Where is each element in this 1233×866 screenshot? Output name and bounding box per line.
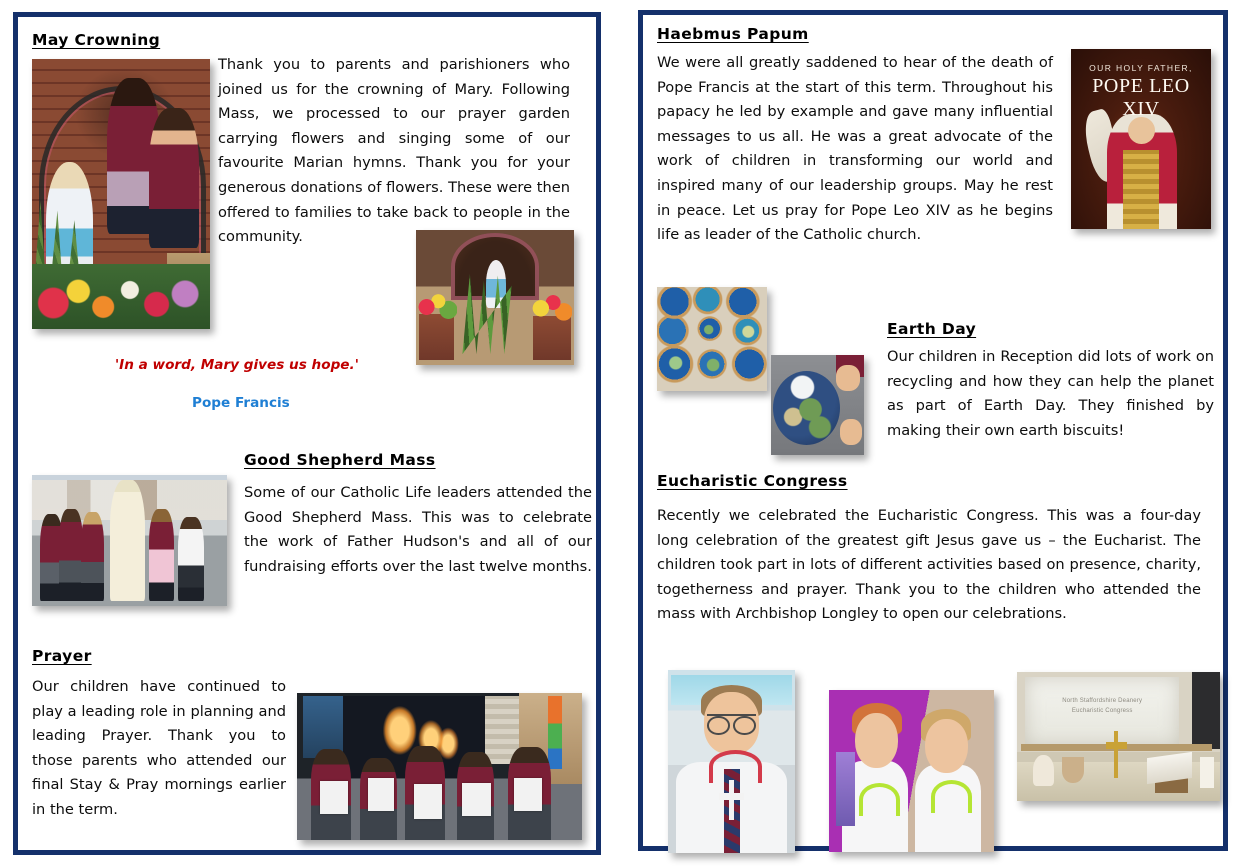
- photo-content: [297, 693, 582, 840]
- heading-haebmus-papum: Haebmus Papum: [657, 25, 809, 43]
- child-figure: [59, 509, 82, 601]
- photo-content: [32, 475, 227, 606]
- photo-content: [668, 670, 795, 853]
- colour-strip: [548, 696, 562, 770]
- candle: [1200, 757, 1214, 788]
- photo-content: North Staffordshire Deanery Eucharistic …: [1017, 672, 1220, 801]
- projection-screen: North Staffordshire Deanery Eucharistic …: [1025, 677, 1179, 747]
- bouquet-left: [418, 289, 458, 324]
- heading-may-crowning: May Crowning: [32, 31, 160, 49]
- congress-altar-photo: North Staffordshire Deanery Eucharistic …: [1017, 672, 1220, 801]
- globe-model: [773, 371, 840, 445]
- prayer-sheet: [462, 783, 491, 817]
- icing-continents: [657, 287, 767, 391]
- body-may-crowning: Thank you to parents and parishioners wh…: [218, 53, 570, 250]
- stage-curtain: [1192, 672, 1220, 749]
- heading-good-shepherd-mass: Good Shepherd Mass: [244, 451, 436, 469]
- girl-head: [925, 719, 968, 772]
- bouquet-right: [531, 291, 572, 327]
- child-figure: [149, 509, 174, 601]
- pipe-cleaner-heart: [859, 783, 900, 816]
- body-eucharistic-congress: Recently we celebrated the Eucharistic C…: [657, 504, 1201, 627]
- prayer-sheet: [514, 778, 543, 810]
- child-figure: [81, 512, 104, 601]
- newsletter-page: May Crowning Thank you to parents and pa…: [0, 0, 1233, 866]
- beaded-heart: [709, 750, 763, 783]
- body-haebmus-papum: We were all greatly saddened to hear of …: [657, 51, 1053, 248]
- backpack: [836, 752, 856, 827]
- slide-line-1: North Staffordshire Deanery: [1025, 698, 1179, 704]
- prayer-sheet: [414, 784, 443, 819]
- girl-head: [855, 713, 898, 768]
- praying-hands-statue: [1033, 755, 1053, 786]
- photo-content: [829, 690, 994, 852]
- earth-biscuits-photo: [657, 287, 767, 391]
- prayer-sheet: [320, 781, 349, 813]
- flower-bed: [32, 264, 210, 329]
- glasses: [707, 714, 755, 731]
- left-column-panel: May Crowning Thank you to parents and pa…: [13, 12, 601, 855]
- right-column-panel: Haebmus Papum We were all greatly sadden…: [638, 10, 1228, 851]
- earth-globe-photo: [771, 355, 864, 455]
- pipe-cleaner-heart: [931, 780, 972, 813]
- chalice: [1062, 757, 1084, 783]
- heading-eucharistic-congress: Eucharistic Congress: [657, 472, 848, 490]
- boy-with-cross-photo: [668, 670, 795, 853]
- boy-figure: [149, 108, 199, 248]
- heading-earth-day: Earth Day: [887, 320, 976, 338]
- photo-content: [416, 230, 574, 365]
- pope-quote: 'In a word, Mary gives us hope.': [115, 357, 359, 373]
- heading-prayer: Prayer: [32, 647, 92, 665]
- cross-craft: [719, 780, 744, 820]
- photo-content: [32, 59, 210, 329]
- photo-content: OUR HOLY FATHER, POPE LEO XIV: [1071, 49, 1211, 229]
- pope-leo-xiv-poster: OUR HOLY FATHER, POPE LEO XIV: [1071, 49, 1211, 229]
- prayer-classroom-photo: [297, 693, 582, 840]
- body-good-shepherd-mass: Some of our Catholic Life leaders attend…: [244, 481, 592, 579]
- child-hand: [836, 365, 860, 391]
- child-hand: [840, 419, 862, 445]
- slide-line-2: Eucharistic Congress: [1025, 708, 1179, 714]
- altar-cross: [1106, 731, 1126, 777]
- poster-subtitle: OUR HOLY FATHER,: [1071, 63, 1211, 73]
- prayer-sheet: [368, 778, 394, 810]
- poster-title: POPE LEO XIV: [1071, 75, 1211, 121]
- priest-figure: [110, 480, 145, 601]
- child-figure: [178, 517, 203, 601]
- pope-quote-attribution: Pope Francis: [192, 395, 290, 411]
- body-earth-day: Our children in Reception did lots of wo…: [887, 345, 1214, 443]
- photo-content: [657, 287, 767, 391]
- prayer-garden-photo: [416, 230, 574, 365]
- good-shepherd-mass-photo: [32, 475, 227, 606]
- may-crowning-photo: [32, 59, 210, 329]
- photo-content: [771, 355, 864, 455]
- stole: [1123, 150, 1159, 229]
- body-prayer: Our children have continued to play a le…: [32, 675, 286, 823]
- two-girls-crafts-photo: [829, 690, 994, 852]
